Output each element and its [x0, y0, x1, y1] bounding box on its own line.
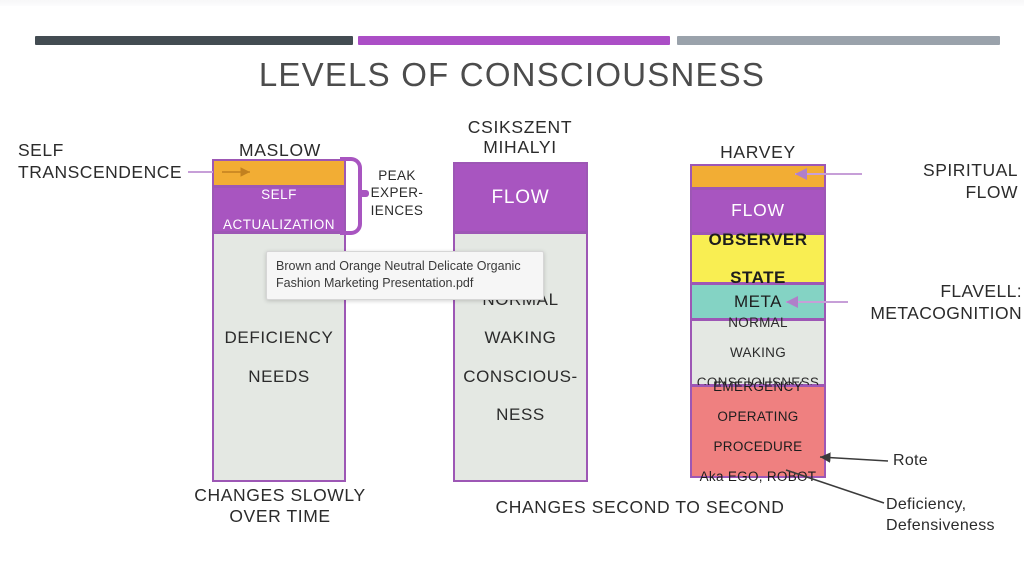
caption-changes-second-to-second: CHANGES SECOND TO SECOND: [450, 497, 830, 518]
annotation-self-transcendence-line2: TRANSCENDENCE: [18, 162, 198, 184]
harvey-nwc-line2: WAKING: [694, 345, 822, 360]
harvey-band-flow: FLOW: [690, 188, 826, 234]
harvey-eop-line2: OPERATING: [697, 409, 820, 424]
column-title-harvey: HARVEY: [682, 143, 834, 163]
annotation-flavell-metacognition: FLAVELL: METACOGNITION: [838, 281, 1022, 325]
harvey-meta-label: META: [731, 292, 785, 311]
annotation-rote: Rote: [893, 452, 928, 470]
maslow-band-self-actualization: SELF ACTUALIZATION: [212, 186, 346, 233]
column-title-csikszentmihalyi-line1: CSIKSZENT: [440, 118, 600, 138]
accent-bar-gray: [677, 36, 1000, 45]
annotation-self-transcendence-line1: SELF: [18, 140, 198, 162]
annotation-peak-experiences-line1: PEAK: [366, 167, 428, 184]
csikszentmihalyi-flow-label: FLOW: [488, 187, 552, 208]
column-title-csikszentmihalyi-line2: MIHALYI: [440, 138, 600, 158]
harvey-observer-line1: OBSERVER: [705, 230, 810, 249]
maslow-band-self-transcendence: [212, 159, 346, 187]
accent-bar-purple: [358, 36, 670, 45]
connector-rote: [820, 457, 888, 461]
annotation-deficiency-line2: Defensiveness: [886, 516, 1024, 537]
annotation-spiritual-flow-line1: SPIRITUAL: [866, 160, 1018, 182]
accent-bar-dark: [35, 36, 353, 45]
annotation-spiritual-flow: SPIRITUAL FLOW: [866, 160, 1018, 204]
maslow-self-actualization-line2: ACTUALIZATION: [220, 217, 338, 232]
column-title-maslow: MASLOW: [205, 141, 355, 161]
annotation-self-transcendence: SELF TRANSCENDENCE: [18, 140, 198, 184]
csikszentmihalyi-nwc-line4: NESS: [460, 405, 581, 424]
harvey-nwc-line1: NORMAL: [694, 315, 822, 330]
csikszentmihalyi-band-flow: FLOW: [453, 162, 588, 233]
harvey-band-spiritual-flow: [690, 164, 826, 189]
annotation-spiritual-flow-line2: FLOW: [866, 182, 1018, 204]
annotation-deficiency-line1: Deficiency,: [886, 495, 1024, 516]
annotation-peak-experiences: PEAK EXPER- IENCES: [366, 167, 428, 219]
annotation-deficiency-defensiveness: Deficiency, Defensiveness: [886, 495, 1024, 537]
top-edge-strip: [0, 0, 1024, 6]
caption-changes-slowly: CHANGES SLOWLY OVER TIME: [175, 485, 385, 527]
maslow-deficiency-line2: NEEDS: [222, 367, 337, 386]
harvey-eop-line3: PROCEDURE: [697, 439, 820, 454]
annotation-peak-experiences-line2: EXPER-: [366, 184, 428, 201]
column-title-csikszentmihalyi: CSIKSZENT MIHALYI: [440, 118, 600, 157]
harvey-eop-line1: EMERGENCY: [697, 379, 820, 394]
maslow-self-actualization-line1: SELF: [220, 187, 338, 202]
harvey-eop-line4: Aka EGO, ROBOT: [697, 469, 820, 484]
annotation-flavell-line1: FLAVELL:: [838, 281, 1022, 303]
harvey-band-emergency-operating-procedure: EMERGENCY OPERATING PROCEDURE Aka EGO, R…: [690, 385, 826, 478]
harvey-band-observer-state: OBSERVER STATE: [690, 233, 826, 284]
annotation-peak-experiences-line3: IENCES: [366, 202, 428, 219]
caption-changes-slowly-line2: OVER TIME: [175, 506, 385, 527]
csikszentmihalyi-nwc-line2: WAKING: [460, 328, 581, 347]
csikszentmihalyi-nwc-line3: CONSCIOUS-: [460, 367, 581, 386]
harvey-band-normal-waking-consciousness: NORMAL WAKING CONSCIOUSNESS: [690, 319, 826, 386]
slide-canvas: LEVELS OF CONSCIOUSNESS SELF TRANSCENDEN…: [0, 0, 1024, 574]
annotation-flavell-line2: METACOGNITION: [838, 303, 1022, 325]
caption-changes-slowly-line1: CHANGES SLOWLY: [175, 485, 385, 506]
maslow-deficiency-line1: DEFICIENCY: [222, 328, 337, 347]
harvey-flow-label: FLOW: [728, 201, 788, 221]
peak-experiences-bracket: [340, 157, 362, 235]
page-title: LEVELS OF CONSCIOUSNESS: [0, 56, 1024, 94]
file-name-tooltip: Brown and Orange Neutral Delicate Organi…: [266, 251, 544, 300]
